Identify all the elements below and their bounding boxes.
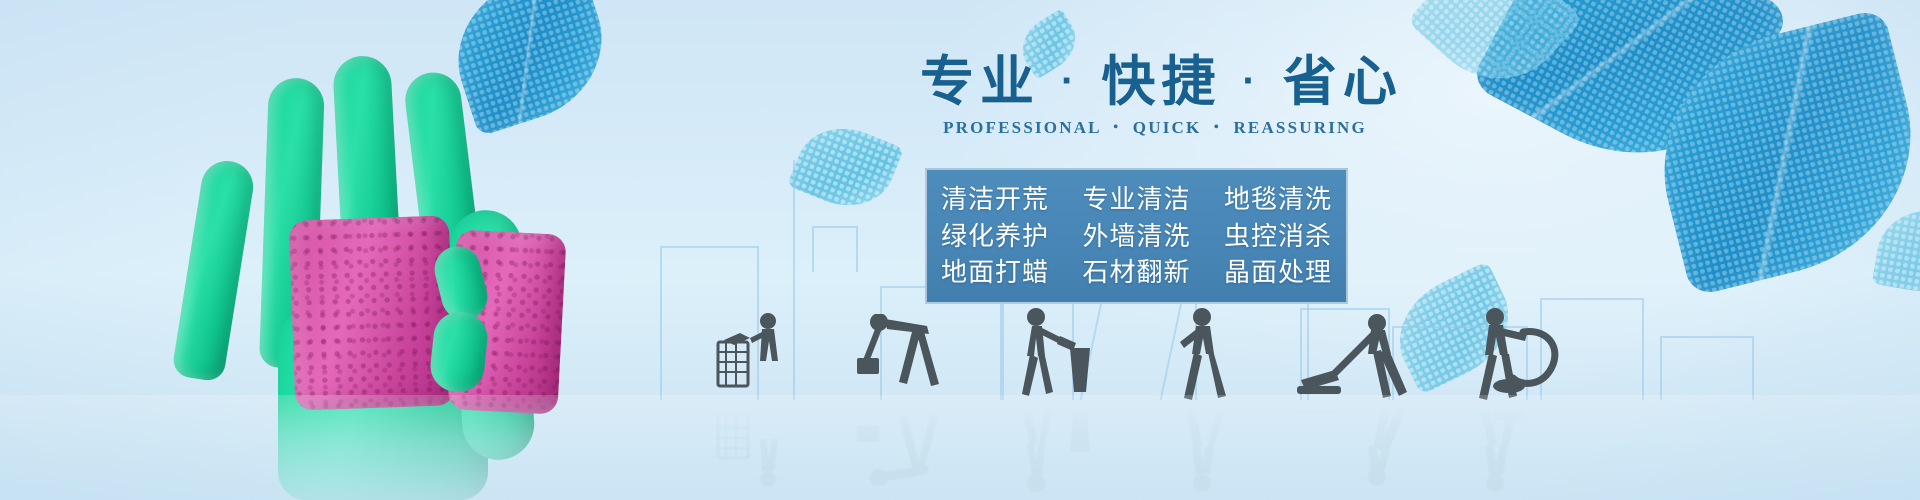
headline-sep-2: · bbox=[1242, 59, 1261, 103]
cleaning-service-banner: 专业 · 快捷 · 省心 PROFESSIONAL • QUICK • REAS… bbox=[0, 0, 1920, 500]
headline-word-3: 省心 bbox=[1283, 52, 1403, 112]
headline-word-2: 快捷 bbox=[1101, 52, 1221, 112]
worker-floor-buffer bbox=[1295, 314, 1415, 400]
headline-sep-1: · bbox=[1061, 59, 1080, 103]
headline-english-subtitle: PROFESSIONAL • QUICK • REASSURING bbox=[920, 118, 1390, 138]
service-item[interactable]: 外墙清洗 bbox=[1082, 218, 1190, 255]
subtitle-sep-2: • bbox=[1208, 120, 1227, 135]
subtitle-word-3: REASSURING bbox=[1233, 118, 1366, 137]
subtitle-word-2: QUICK bbox=[1133, 118, 1202, 137]
gloved-hand-with-sponges bbox=[170, 50, 590, 500]
building-outline-11 bbox=[1660, 336, 1754, 400]
headline-block: 专业 · 快捷 · 省心 PROFESSIONAL • QUICK • REAS… bbox=[920, 52, 1390, 138]
worker-dustpan bbox=[1018, 308, 1104, 400]
worker-sweeping-bin bbox=[712, 312, 790, 400]
subtitle-sep-1: • bbox=[1107, 120, 1126, 135]
worker-wiping bbox=[1168, 308, 1242, 400]
service-item[interactable]: 地面打蜡 bbox=[941, 254, 1049, 291]
service-item[interactable]: 专业清洁 bbox=[1082, 181, 1190, 218]
service-item[interactable]: 清洁开荒 bbox=[941, 181, 1049, 218]
service-item[interactable]: 虫控消杀 bbox=[1224, 218, 1332, 255]
services-row: 清洁开荒 专业清洁 地毯清洗 bbox=[941, 181, 1332, 218]
service-item[interactable]: 石材翻新 bbox=[1082, 254, 1190, 291]
sponge-left bbox=[289, 215, 456, 410]
worker-vacuum bbox=[1465, 308, 1575, 400]
service-item[interactable]: 绿化养护 bbox=[941, 218, 1049, 255]
leaf-mid-small bbox=[787, 113, 904, 221]
headline-word-1: 专业 bbox=[920, 52, 1040, 112]
glove-finger-little bbox=[171, 157, 257, 382]
worker-mopping bbox=[855, 314, 951, 400]
service-item[interactable]: 地毯清洗 bbox=[1224, 181, 1332, 218]
service-item[interactable]: 晶面处理 bbox=[1224, 254, 1332, 291]
subtitle-word-1: PROFESSIONAL bbox=[943, 118, 1101, 137]
headline-chinese: 专业 · 快捷 · 省心 bbox=[920, 52, 1390, 112]
services-row: 地面打蜡 石材翻新 晶面处理 bbox=[941, 254, 1332, 291]
services-list-box: 清洁开荒 专业清洁 地毯清洗 绿化养护 外墙清洗 虫控消杀 地面打蜡 石材翻新 … bbox=[925, 168, 1348, 304]
services-row: 绿化养护 外墙清洗 虫控消杀 bbox=[941, 218, 1332, 255]
building-outline-3 bbox=[812, 226, 858, 272]
